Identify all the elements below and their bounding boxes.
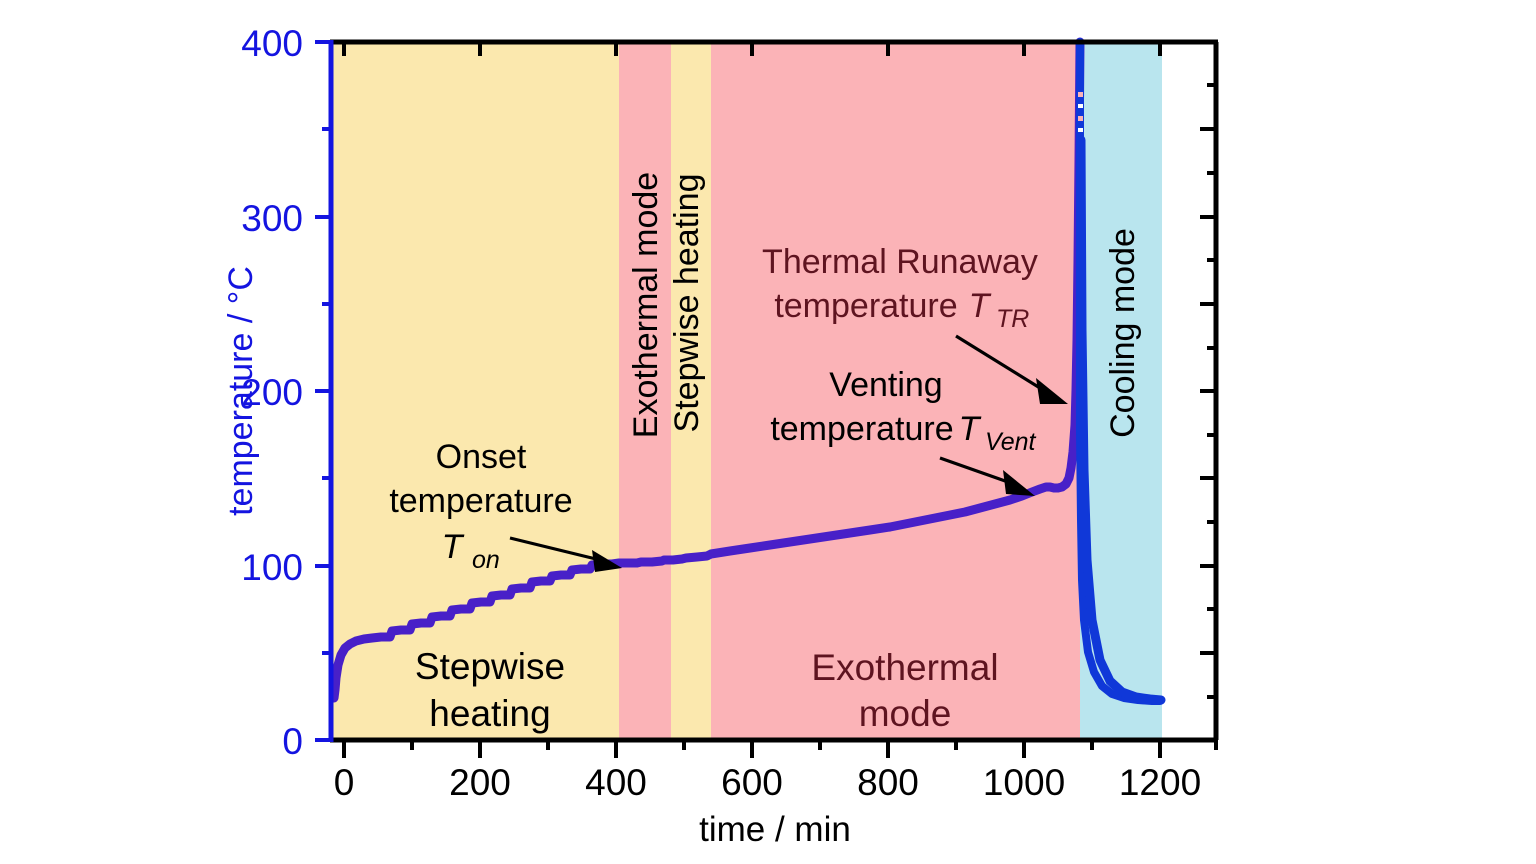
vent-symbol: T xyxy=(959,410,982,448)
onset-symbol: T xyxy=(442,528,465,566)
x-tick-label-1200: 1200 xyxy=(1119,762,1201,803)
stepwise-big-line2: heating xyxy=(429,693,550,734)
band-label-stepwise-heating-vertical: Stepwise heating xyxy=(668,174,706,433)
x-axis-ticks xyxy=(344,740,1216,758)
vent-symbol-subscript: Vent xyxy=(985,428,1037,456)
y-tick-label-400: 400 xyxy=(241,23,303,64)
tr-symbol-subscript: TR xyxy=(996,305,1029,333)
onset-line1: Onset xyxy=(436,438,527,476)
x-tick-labels: 0 200 400 600 800 1000 1200 xyxy=(334,762,1201,803)
thermal-runaway-plot: 0 100 200 300 400 0 200 400 600 800 1000… xyxy=(0,0,1536,864)
x-tick-label-400: 400 xyxy=(585,762,647,803)
x-tick-label-1000: 1000 xyxy=(983,762,1065,803)
y-tick-label-0: 0 xyxy=(282,721,303,762)
y-axis-title: temperature / °C xyxy=(222,266,260,516)
onset-symbol-subscript: on xyxy=(472,546,500,574)
band-label-cooling-mode-vertical: Cooling mode xyxy=(1104,228,1142,438)
vent-line2: temperature xyxy=(770,410,953,448)
x-tick-label-200: 200 xyxy=(449,762,511,803)
onset-line2: temperature xyxy=(389,482,572,520)
stepwise-big-line1: Stepwise xyxy=(415,646,565,687)
y-tick-label-100: 100 xyxy=(241,547,303,588)
x-tick-label-600: 600 xyxy=(721,762,783,803)
exothermal-big-line2: mode xyxy=(859,693,952,734)
chart-figure: 0 100 200 300 400 0 200 400 600 800 1000… xyxy=(0,0,1536,864)
y-tick-label-300: 300 xyxy=(241,198,303,239)
x-tick-label-0: 0 xyxy=(334,762,355,803)
tr-line1: Thermal Runaway xyxy=(762,243,1038,281)
tr-symbol: T xyxy=(969,287,992,325)
region-bands xyxy=(330,42,1162,740)
tr-line2: temperature xyxy=(774,287,957,325)
x-tick-label-800: 800 xyxy=(857,762,919,803)
band-label-exothermal-mode-vertical: Exothermal mode xyxy=(627,172,665,438)
exothermal-big-line1: Exothermal xyxy=(811,647,998,688)
vent-line1: Venting xyxy=(829,366,942,404)
x-axis-title: time / min xyxy=(699,810,851,849)
